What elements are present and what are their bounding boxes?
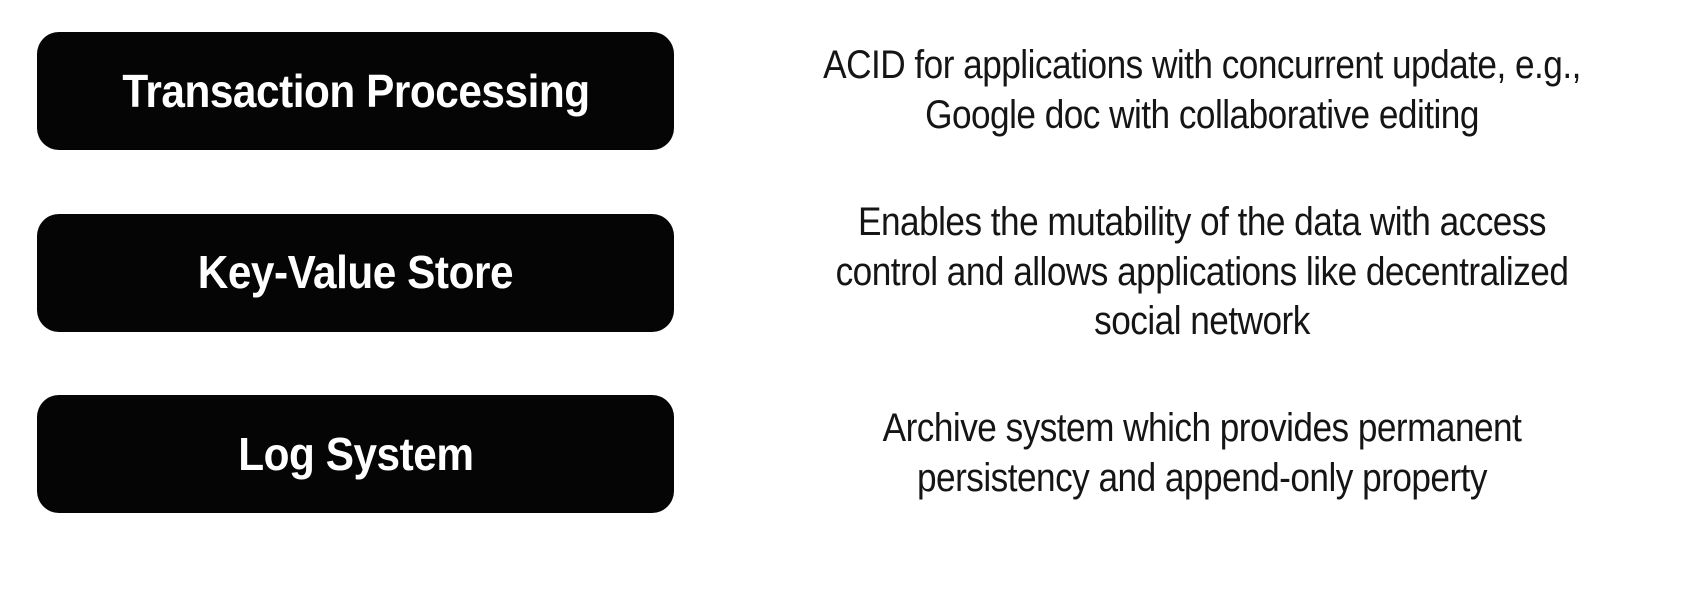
node-box-transaction-processing[interactable]: Transaction Processing [37,32,674,150]
diagram-row: Key-Value Store Enables the mutability o… [0,213,1704,332]
node-description-log-system: Archive system which provides permanent … [810,404,1593,503]
node-box-label: Transaction Processing [122,67,589,115]
node-box-key-value-store[interactable]: Key-Value Store [37,214,674,332]
node-box-label: Key-Value Store [198,248,513,296]
node-box-label: Log System [238,430,473,478]
description-column: Archive system which provides permanent … [700,404,1704,503]
label-column: Key-Value Store [0,214,700,332]
description-column: ACID for applications with concurrent up… [700,41,1704,140]
node-description-key-value-store: Enables the mutability of the data with … [810,198,1593,347]
node-box-log-system[interactable]: Log System [37,395,674,513]
diagram-canvas: Transaction Processing ACID for applicat… [0,0,1704,594]
label-column: Log System [0,395,700,513]
diagram-row: Transaction Processing ACID for applicat… [0,32,1704,150]
node-description-transaction-processing: ACID for applications with concurrent up… [810,41,1593,140]
description-column: Enables the mutability of the data with … [700,198,1704,347]
label-column: Transaction Processing [0,32,700,150]
diagram-row: Log System Archive system which provides… [0,395,1704,513]
